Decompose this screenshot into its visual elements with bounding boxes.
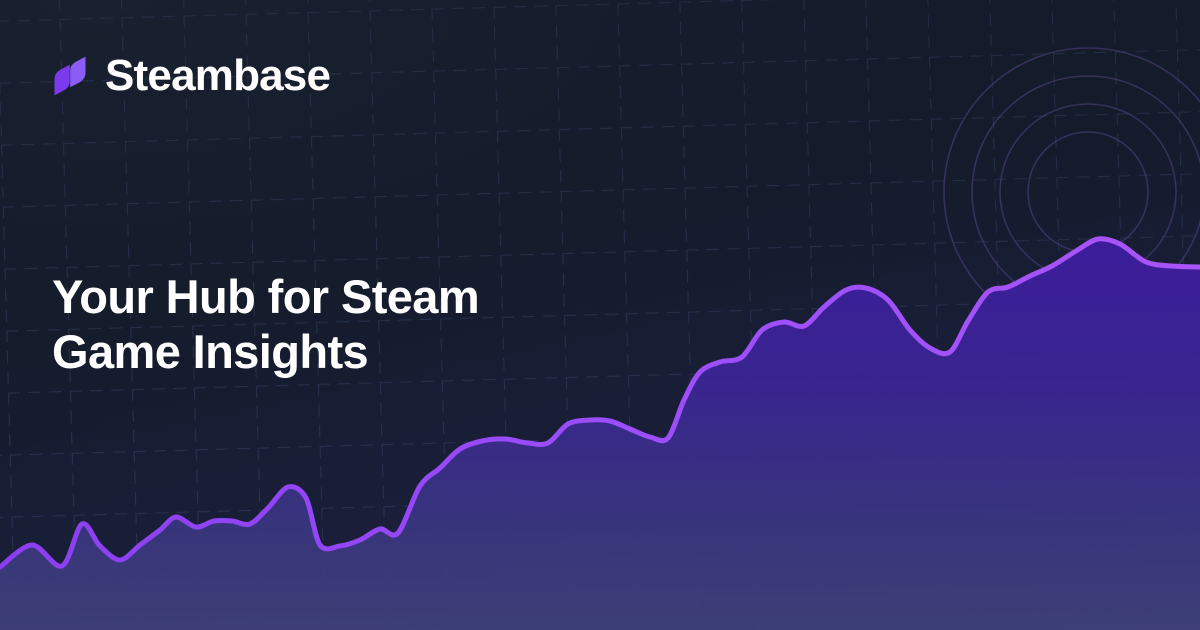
page-title: Your Hub for Steam Game Insights [52, 270, 692, 380]
headline-line-1: Your Hub for Steam [52, 270, 692, 325]
steambase-logo-icon [52, 50, 88, 102]
brand-lockup: Steambase [52, 50, 330, 102]
og-card: Steambase Your Hub for Steam Game Insigh… [0, 0, 1200, 630]
hero-content: Steambase Your Hub for Steam Game Insigh… [52, 0, 752, 630]
headline-line-2: Game Insights [52, 325, 692, 380]
brand-name: Steambase [105, 54, 330, 98]
